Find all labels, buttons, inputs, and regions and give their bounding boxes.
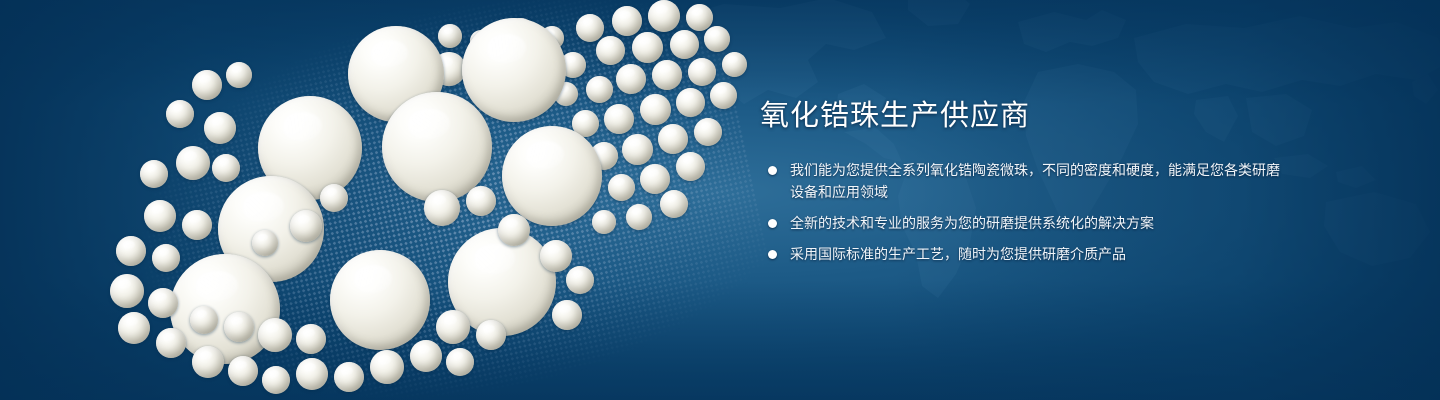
bullet-circle-icon	[768, 166, 777, 175]
bullet-circle-icon	[768, 250, 777, 259]
list-item: 我们能为您提供全系列氧化锆陶瓷微珠，不同的密度和硬度，能满足您各类研磨设备和应用…	[760, 159, 1280, 203]
feature-list: 我们能为您提供全系列氧化锆陶瓷微珠，不同的密度和硬度，能满足您各类研磨设备和应用…	[760, 159, 1280, 265]
banner-copy: 氧化锆珠生产供应商 我们能为您提供全系列氧化锆陶瓷微珠，不同的密度和硬度，能满足…	[760, 100, 1280, 274]
page-title: 氧化锆珠生产供应商	[760, 100, 1280, 133]
list-item-text: 采用国际标准的生产工艺，随时为您提供研磨介质产品	[790, 246, 1126, 262]
list-item-text: 全新的技术和专业的服务为您的研磨提供系统化的解决方案	[790, 215, 1154, 231]
bullet-circle-icon	[768, 219, 777, 228]
list-item: 采用国际标准的生产工艺，随时为您提供研磨介质产品	[760, 243, 1280, 265]
hero-banner: 氧化锆珠生产供应商 我们能为您提供全系列氧化锆陶瓷微珠，不同的密度和硬度，能满足…	[0, 0, 1440, 400]
list-item: 全新的技术和专业的服务为您的研磨提供系统化的解决方案	[760, 212, 1280, 234]
list-item-text: 我们能为您提供全系列氧化锆陶瓷微珠，不同的密度和硬度，能满足您各类研磨设备和应用…	[790, 162, 1280, 200]
